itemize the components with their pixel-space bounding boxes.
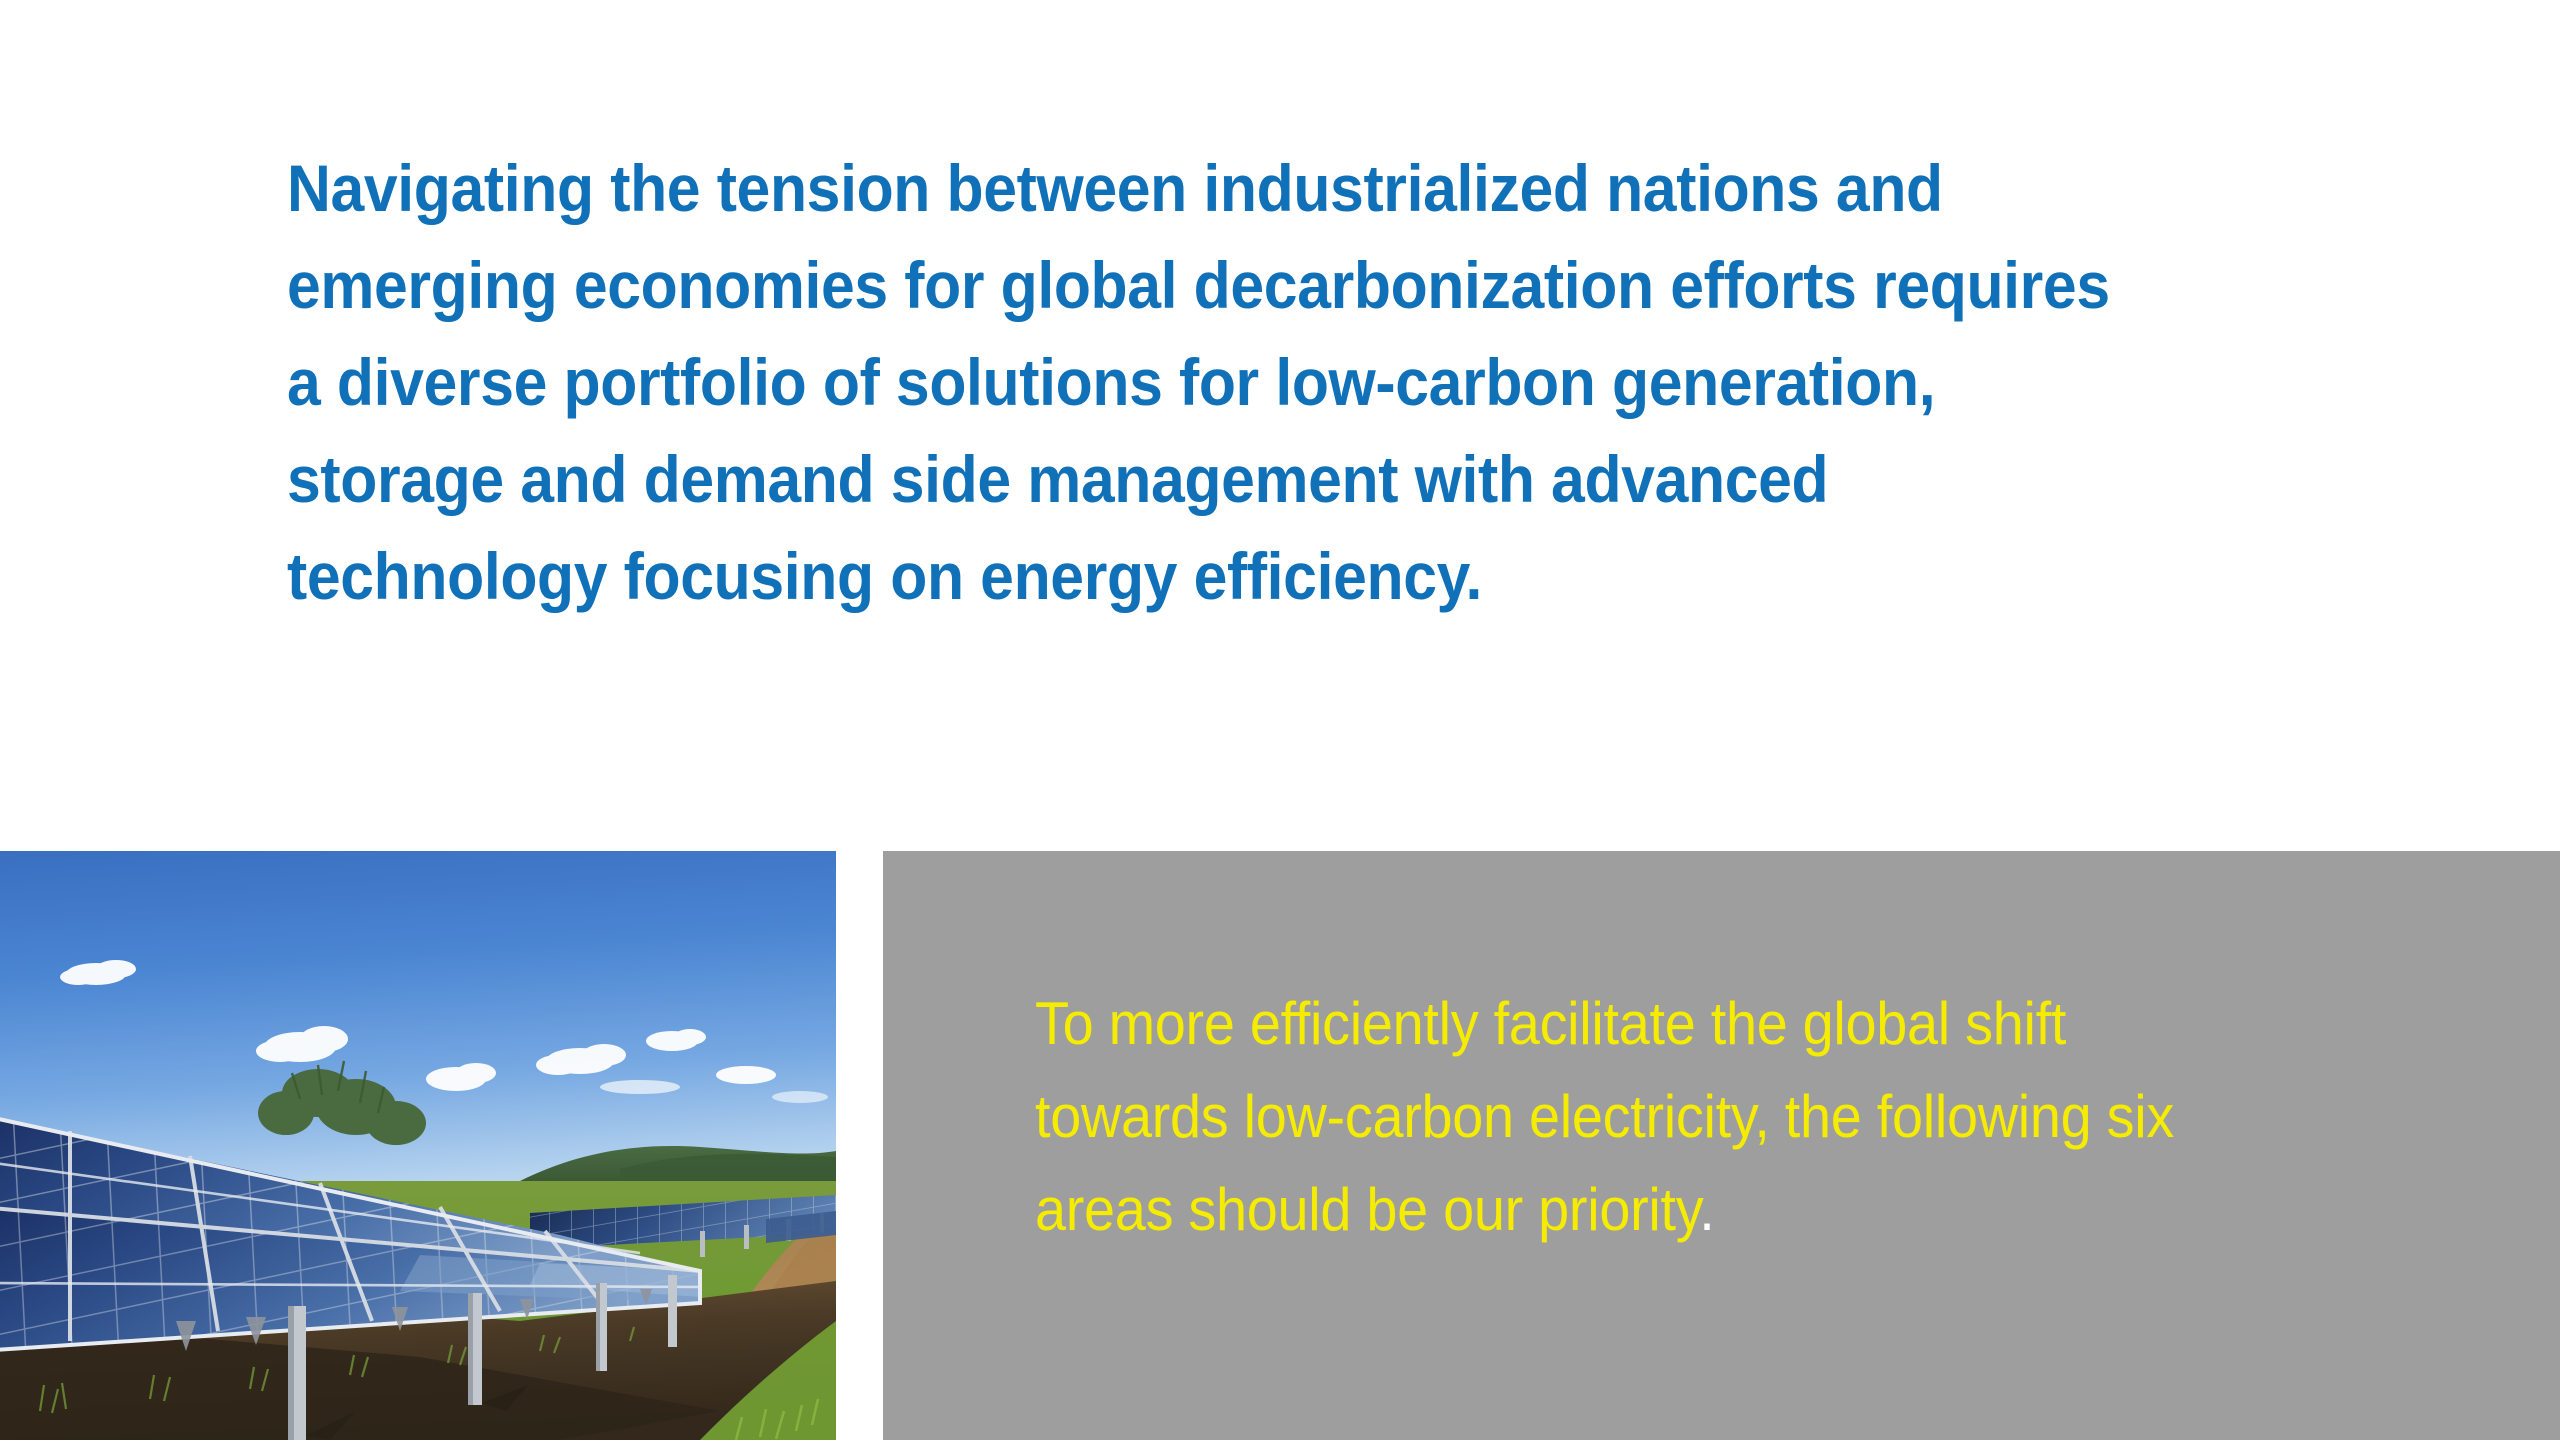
solar-farm-photo [0, 851, 836, 1440]
bottom-content-row: To more efficiently facilitate the globa… [0, 851, 2560, 1440]
heading-block: Navigating the tension between industria… [287, 140, 2297, 625]
slide-canvas: Navigating the tension between industria… [0, 0, 2560, 1440]
callout-text-body: To more efficiently facilitate the globa… [1035, 990, 2174, 1243]
callout-text-block: To more efficiently facilitate the globa… [1035, 977, 2355, 1256]
page-title: Navigating the tension between industria… [287, 140, 2136, 625]
solar-farm-illustration [0, 851, 836, 1440]
callout-text-period: . [1699, 1176, 1714, 1243]
callout-panel: To more efficiently facilitate the globa… [883, 851, 2560, 1440]
callout-text: To more efficiently facilitate the globa… [1035, 977, 2263, 1256]
